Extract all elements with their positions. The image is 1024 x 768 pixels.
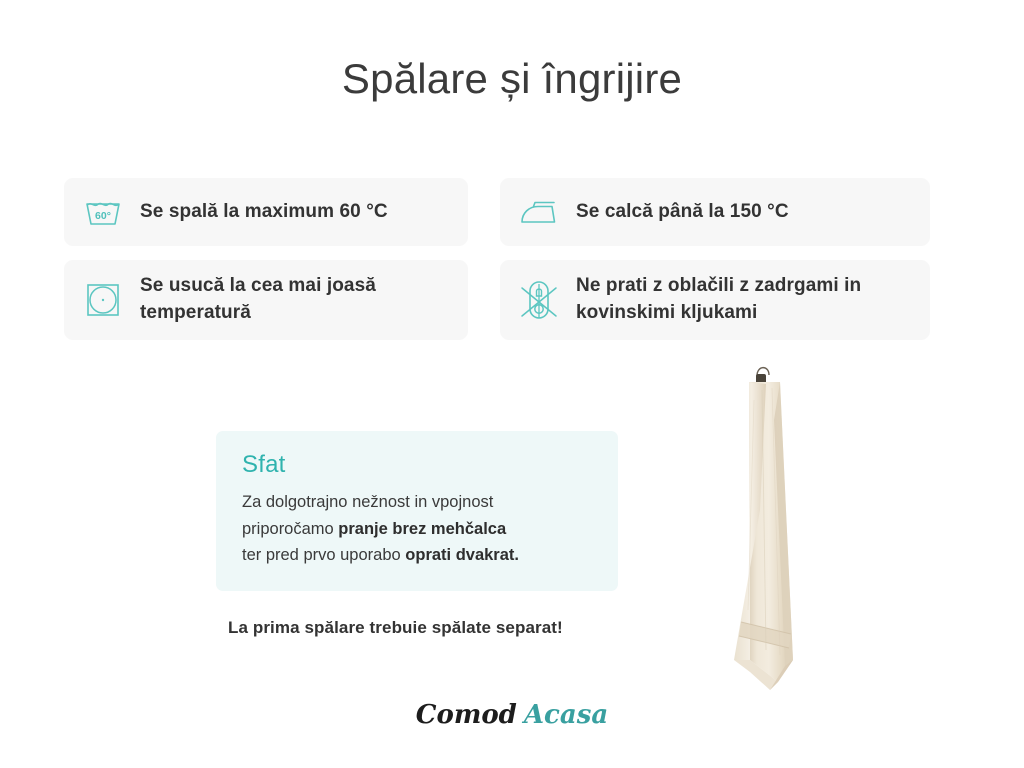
care-card-label: Se calcă până la 150 °C bbox=[576, 199, 789, 226]
care-card-label: Se usucă la cea mai joasă temperatură bbox=[140, 273, 450, 327]
logo-word-acasa: Acasa bbox=[524, 700, 608, 730]
tip-line-2-bold: pranje brez mehčalca bbox=[338, 520, 506, 538]
no-zipper-icon bbox=[518, 279, 560, 321]
care-card-no-zipper: Ne prati z oblačili z zadrgami in kovins… bbox=[500, 260, 930, 340]
care-cards-grid: 60° Se spală la maximum 60 °C Se calcă p… bbox=[64, 178, 964, 340]
hanging-towel-image bbox=[694, 360, 834, 705]
tip-line-2-plain: priporočamo bbox=[242, 520, 338, 538]
tip-heading: Sfat bbox=[242, 451, 592, 479]
care-instructions-page: Spălare și îngrijire 60° Se spală la max… bbox=[0, 0, 1024, 768]
tip-line-3-bold: oprati dvakrat. bbox=[405, 546, 519, 564]
tip-line-3-plain: ter pred prvo uporabo bbox=[242, 546, 405, 564]
wash-tub-60-icon: 60° bbox=[82, 191, 124, 233]
care-card-iron: Se calcă până la 150 °C bbox=[500, 178, 930, 246]
svg-text:60°: 60° bbox=[95, 210, 111, 222]
page-title: Spălare și îngrijire bbox=[0, 55, 1024, 103]
tip-line-1: Za dolgotrajno nežnost in vpojnost bbox=[242, 493, 493, 511]
care-card-label: Ne prati z oblačili z zadrgami in kovins… bbox=[576, 273, 912, 327]
brand-logo: ComodAcasa bbox=[0, 700, 1024, 730]
tip-body: Za dolgotrajno nežnost in vpojnost pripo… bbox=[242, 489, 592, 569]
tumble-dry-low-icon bbox=[82, 279, 124, 321]
first-wash-note: La prima spălare trebuie spălate separat… bbox=[228, 618, 563, 638]
care-card-label: Se spală la maximum 60 °C bbox=[140, 199, 388, 226]
iron-icon bbox=[518, 191, 560, 233]
tip-box: Sfat Za dolgotrajno nežnost in vpojnost … bbox=[216, 431, 618, 591]
logo-word-comod: Comod bbox=[416, 700, 517, 730]
care-card-dry: Se usucă la cea mai joasă temperatură bbox=[64, 260, 468, 340]
care-card-wash: 60° Se spală la maximum 60 °C bbox=[64, 178, 468, 246]
